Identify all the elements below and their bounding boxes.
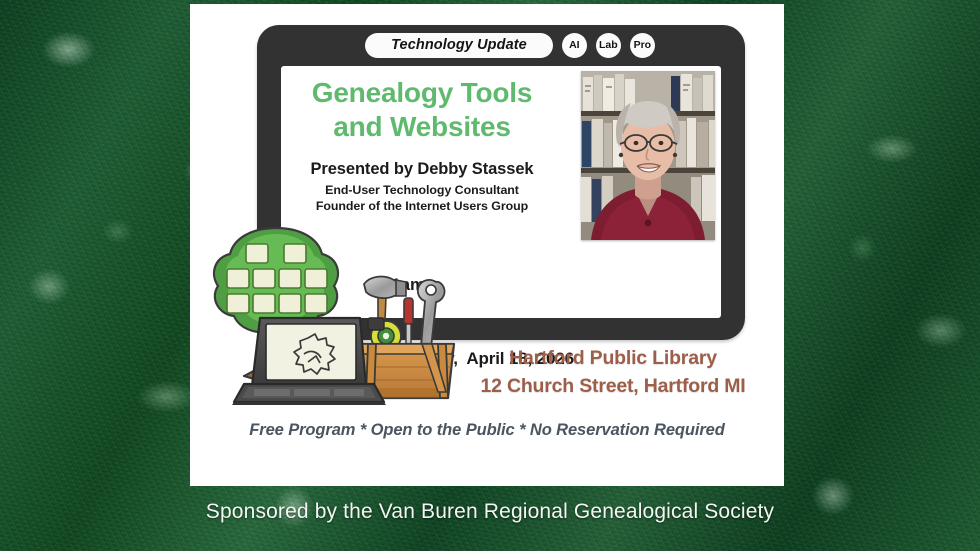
genealogy-illustration — [208, 226, 470, 406]
presenter-portrait-photo — [581, 71, 715, 240]
venue-block: Hartford Public Library 12 Church Street… — [442, 345, 784, 400]
free-program-note: Free Program * Open to the Public * No R… — [190, 421, 784, 440]
lab-badge: Lab — [596, 33, 621, 58]
portrait-illustration — [581, 71, 715, 240]
toolbox-icon — [360, 277, 454, 398]
illustration-svg — [208, 226, 470, 406]
event-title-line2: and Websites — [281, 110, 563, 144]
venue-address: 12 Church Street, Hartford MI — [442, 373, 784, 401]
screen-text-column: Genealogy Tools and Websites Presented b… — [281, 66, 563, 215]
event-title: Genealogy Tools and Websites — [281, 76, 563, 144]
tablet-topbar: Technology Update AI Lab Pro — [257, 25, 745, 66]
presenter-name: Presented by Debby Stassek — [281, 160, 563, 179]
event-title-line1: Genealogy Tools — [281, 76, 563, 110]
technology-update-pill: Technology Update — [365, 33, 553, 59]
venue-name: Hartford Public Library — [442, 345, 784, 373]
presenter-role-line-1: End-User Technology Consultant — [281, 183, 563, 199]
flyer-card: Technology Update AI Lab Pro Genealogy T… — [190, 4, 784, 486]
wrench-icon — [418, 280, 445, 348]
presenter-role-line-2: Founder of the Internet Users Group — [281, 199, 563, 215]
sponsor-line: Sponsored by the Van Buren Regional Gene… — [0, 500, 980, 524]
pro-badge: Pro — [630, 33, 655, 58]
ai-badge: AI — [562, 33, 587, 58]
